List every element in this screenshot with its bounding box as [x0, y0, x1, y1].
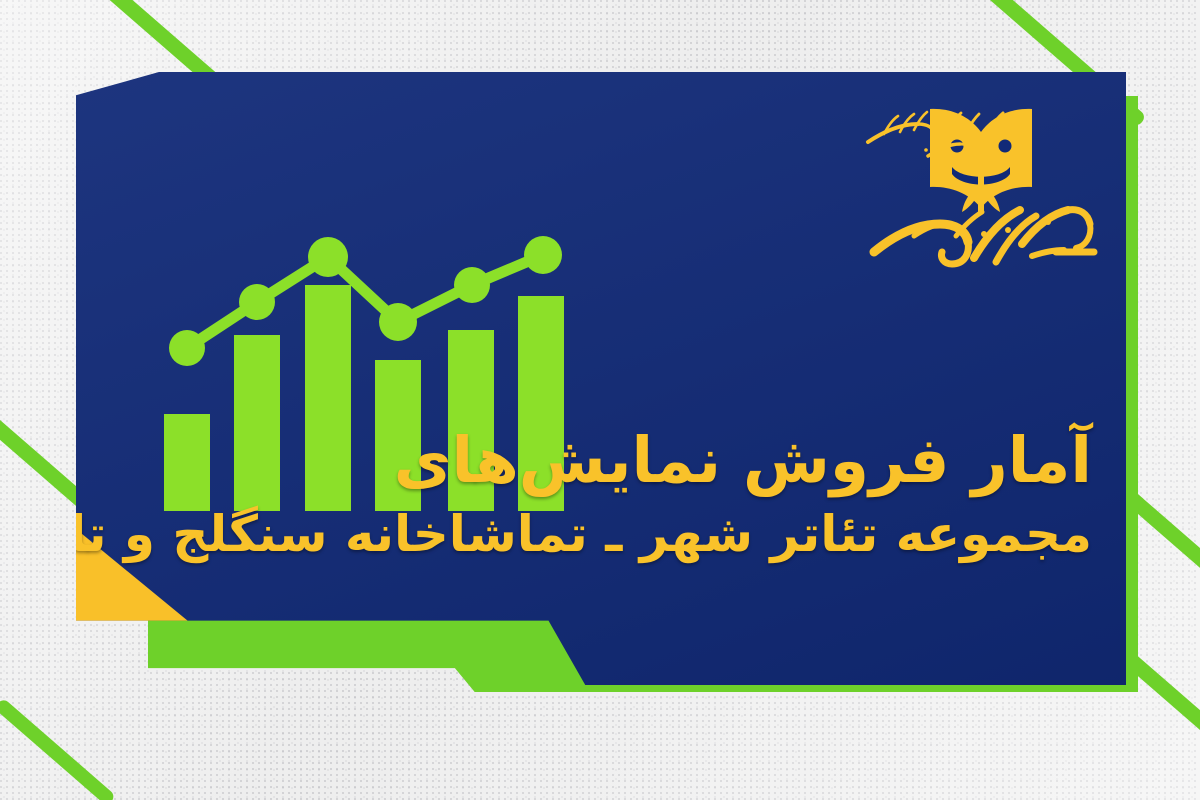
chart-trend-line [169, 236, 562, 366]
headline-line-1: آمار فروش نمایش‌های [112, 424, 1092, 498]
main-navy-card: آمار فروش نمایش‌های مجموعه تئاتر شهر ـ ت… [76, 72, 1126, 685]
trend-marker-3 [308, 237, 348, 277]
trend-marker-2 [239, 284, 275, 320]
open-book-face-emblem [930, 109, 1032, 212]
logo-lower-script [874, 210, 1094, 264]
diag-bar-bottom-left [0, 698, 116, 800]
headline-block: آمار فروش نمایش‌های مجموعه تئاتر شهر ـ ت… [112, 424, 1092, 567]
ministry-logo [856, 84, 1106, 274]
trend-marker-5 [454, 267, 490, 303]
trend-marker-4 [379, 303, 417, 341]
trend-marker-1 [169, 330, 205, 366]
headline-line-2: مجموعه تئاتر شهر ـ تماشاخانه سنگلج و تال… [112, 502, 1092, 567]
poster-canvas: آمار فروش نمایش‌های مجموعه تئاتر شهر ـ ت… [0, 0, 1200, 800]
trend-marker-6 [524, 236, 562, 274]
